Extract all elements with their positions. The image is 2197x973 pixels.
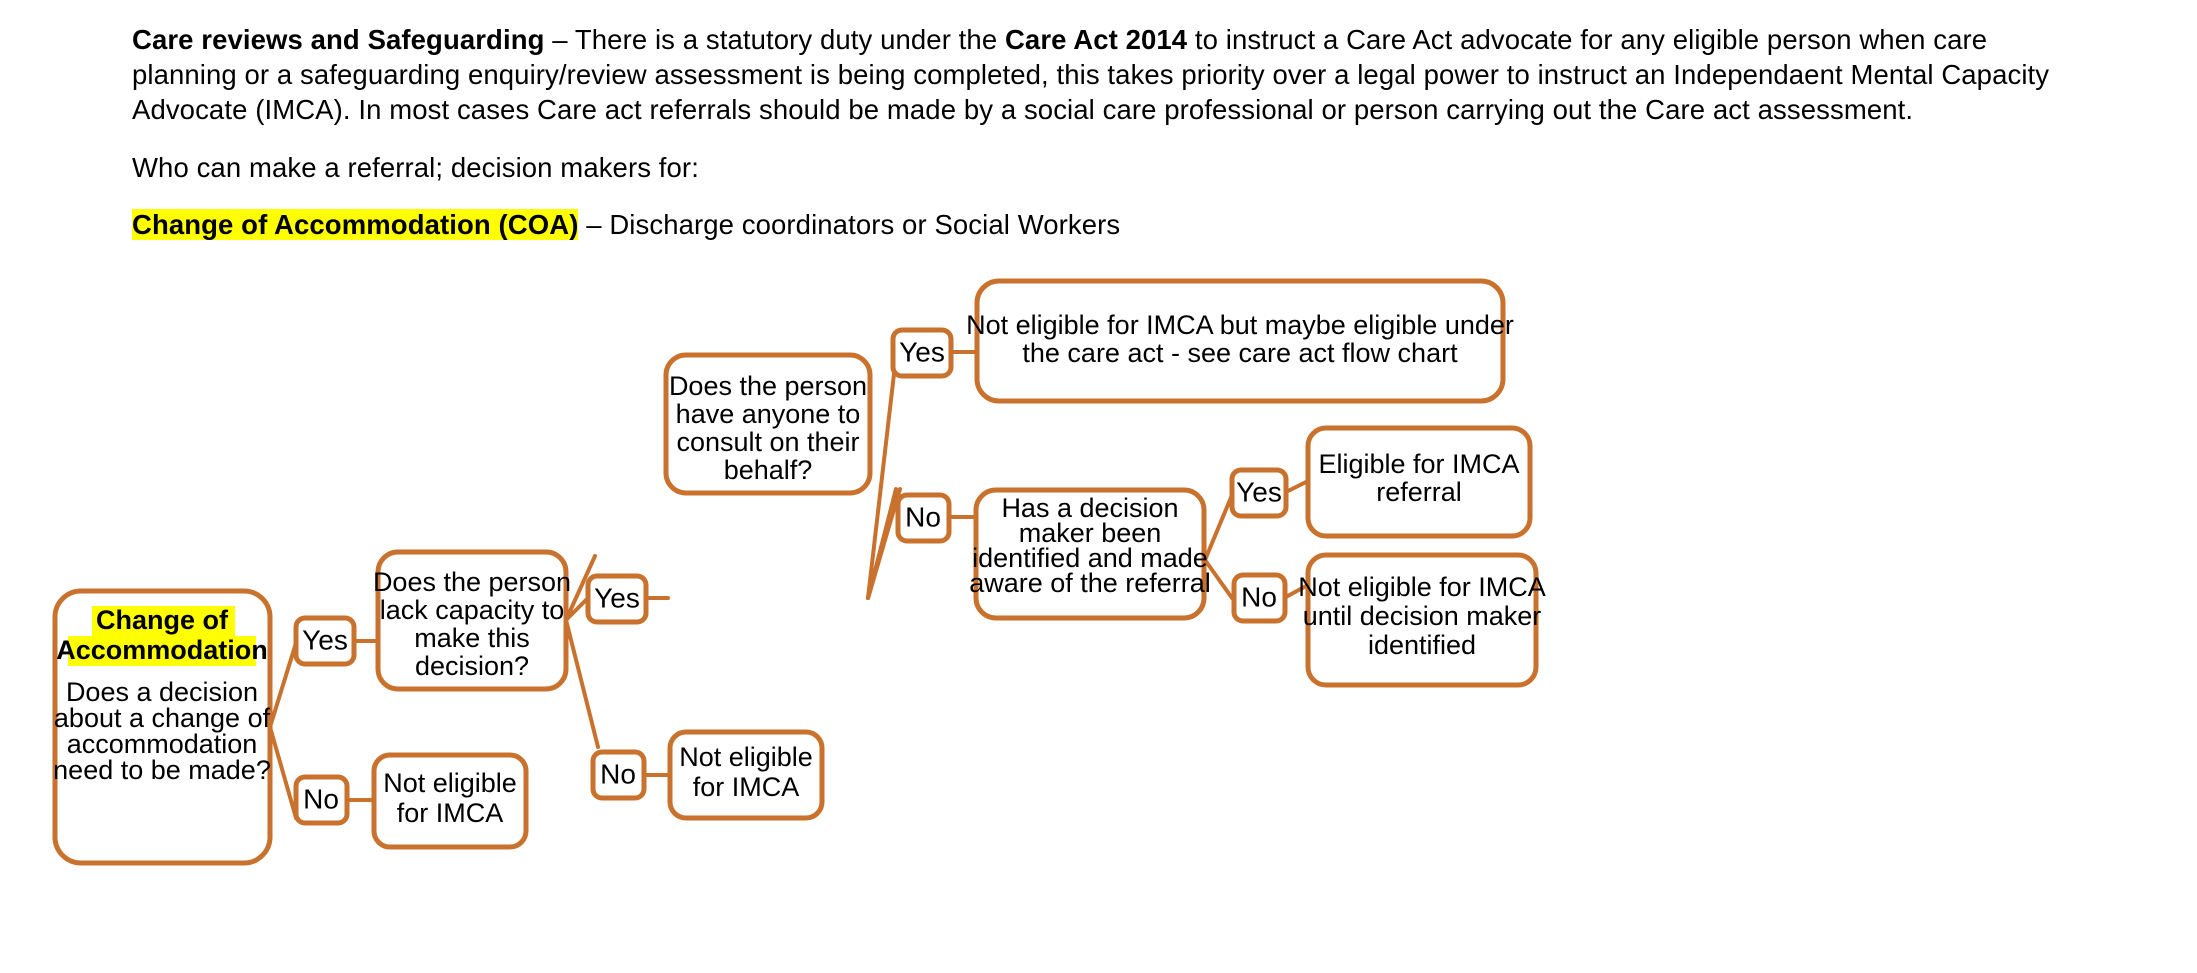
node-lack-capacity[interactable]: Does the person lack capacity to make th… [373,552,571,689]
node-capacity-rect[interactable] [378,552,566,689]
label-start-no-text: No [303,783,339,814]
intro-text-block: Care reviews and Safeguarding – There is… [132,22,2082,242]
node-care-act-flow-chart[interactable]: Not eligible for IMCA but maybe eligible… [966,281,1514,401]
label-dm-no-rect[interactable] [1234,575,1285,621]
edge-consult-to-no-label [868,489,900,598]
node-not-until-dm-rect[interactable] [1308,555,1536,685]
coa-run-1: – Discharge coordinators or Social Worke… [578,209,1120,240]
node-anyone-to-consult[interactable]: Does the person have anyone to consult o… [666,355,870,493]
node-not-eligible-2-line-1: for IMCA [693,772,800,802]
intro-run-1: – There is a statutory duty under the [545,24,1005,55]
node-not-eligible-imca-1[interactable]: Not eligible for IMCA [374,755,526,847]
intro-bold-lead: Care reviews and Safeguarding [132,24,545,55]
node-start-line-3: need to be made? [53,755,271,785]
node-not-eligible-2-line-0: Not eligible [679,742,813,772]
edge-start-no [270,727,296,818]
edge-label-dm-yes[interactable]: Yes [1232,470,1286,516]
edge-consult-no [868,489,896,598]
edge-label-capacity-no[interactable]: No [593,752,644,798]
edge-label-start-no[interactable]: No [296,777,347,823]
node-decision-maker-identified[interactable]: Has a decision maker been identified and… [969,490,1211,618]
paragraph-intro: Care reviews and Safeguarding – There is… [132,22,2082,128]
edge-label-capacity-yes[interactable]: Yes [588,576,646,622]
node-care-act-line-1: the care act - see care act flow chart [1022,338,1458,368]
node-capacity-line-3: decision? [415,651,529,681]
edge-label-dm-no[interactable]: No [1234,575,1285,621]
label-start-no-rect[interactable] [296,777,347,823]
label-consult-no-rect[interactable] [898,495,949,541]
node-capacity-line-2: make this [414,623,530,653]
edge-capacity-no [566,556,595,620]
edge-consult-no-2 [868,493,898,598]
node-not-until-dm-line-0: Not eligible for IMCA [1298,572,1546,602]
edge-capacity-yes [566,598,588,620]
node-start-highlight-line2 [68,636,256,666]
node-start-line-1: about a change of [54,703,271,733]
node-not-eligible-1-line-0: Not eligible [383,768,517,798]
node-not-until-dm-line-1: until decision maker [1303,601,1542,631]
node-not-eligible-imca-2[interactable]: Not eligible for IMCA [670,732,822,818]
label-consult-no-text: No [905,501,941,532]
node-capacity-line-1: lack capacity to [380,595,565,625]
node-start-title-line2: Accommodation [56,635,268,665]
label-start-yes-rect[interactable] [296,618,354,664]
node-capacity-line-0: Does the person [373,567,571,597]
label-capacity-yes-rect[interactable] [588,576,646,622]
node-dm-line-0: Has a decision [1001,493,1178,523]
node-not-until-dm-line-2: identified [1368,630,1476,660]
edge-label-consult-no[interactable]: No [898,495,949,541]
node-care-act-rect[interactable] [977,281,1503,401]
edge-dm-yes-to-eligible [1284,481,1308,493]
node-decision-maker-rect[interactable] [976,490,1204,618]
edge-dm-no [1205,560,1232,598]
label-dm-no-text: No [1241,581,1277,612]
label-capacity-no-rect[interactable] [593,752,644,798]
edge-start-yes [270,643,296,727]
node-dm-line-1: maker been [1019,518,1162,548]
label-consult-yes-rect[interactable] [893,330,951,376]
node-dm-line-3: aware of the referral [969,568,1211,598]
flow-edges [270,352,1308,818]
node-consult-rect[interactable] [666,355,870,493]
node-start-highlight-line1 [92,606,235,636]
node-consult-line-0: Does the person [669,371,867,401]
node-dm-line-2: identified and made [972,543,1208,573]
node-start-line-0: Does a decision [66,677,258,707]
label-dm-yes-text: Yes [1236,476,1282,507]
node-eligible-line-0: Eligible for IMCA [1318,449,1519,479]
coa-highlight: Change of Accommodation (COA) [132,209,578,240]
label-start-yes-text: Yes [302,624,348,655]
node-eligible-for-imca-referral[interactable]: Eligible for IMCA referral [1308,428,1530,536]
edge-dm-yes [1205,495,1232,560]
node-start-title-line1: Change of [96,605,229,635]
edge-label-consult-yes[interactable]: Yes [893,330,951,376]
node-not-eligible-until-dm[interactable]: Not eligible for IMCA until decision mak… [1298,555,1546,685]
edge-label-start-yes[interactable]: Yes [296,618,354,664]
label-capacity-no-text: No [600,758,636,789]
edge-consult-no-line [868,493,898,598]
label-consult-yes-text: Yes [899,336,945,367]
node-not-eligible-2-rect[interactable] [670,732,822,818]
node-eligible-rect[interactable] [1308,428,1530,536]
node-not-eligible-1-line-1: for IMCA [397,798,504,828]
paragraph-who-can-refer: Who can make a referral; decision makers… [132,150,2082,185]
node-not-eligible-1-rect[interactable] [374,755,526,847]
intro-bold-care-act: Care Act 2014 [1005,24,1187,55]
node-change-of-accommodation[interactable]: Change of Accommodation Does a decision … [53,591,271,863]
edge-capacity-no-down [566,620,598,747]
node-eligible-line-1: referral [1376,477,1462,507]
edge-consult-no-down [868,494,898,598]
node-consult-line-2: consult on their [676,427,859,457]
node-care-act-line-0: Not eligible for IMCA but maybe eligible… [966,310,1514,340]
node-consult-line-1: have anyone to [676,399,861,429]
label-capacity-yes-text: Yes [594,582,640,613]
label-dm-yes-rect[interactable] [1232,470,1286,516]
edge-consult-yes [868,374,894,598]
paragraph-coa: Change of Accommodation (COA) – Discharg… [132,207,2082,242]
node-start-line-2: accommodation [67,729,258,759]
edge-dm-no-to-box [1284,585,1308,598]
who-can-refer-text: Who can make a referral; decision makers… [132,152,699,183]
node-consult-line-3: behalf? [724,455,813,485]
node-start-rect[interactable] [55,591,270,863]
